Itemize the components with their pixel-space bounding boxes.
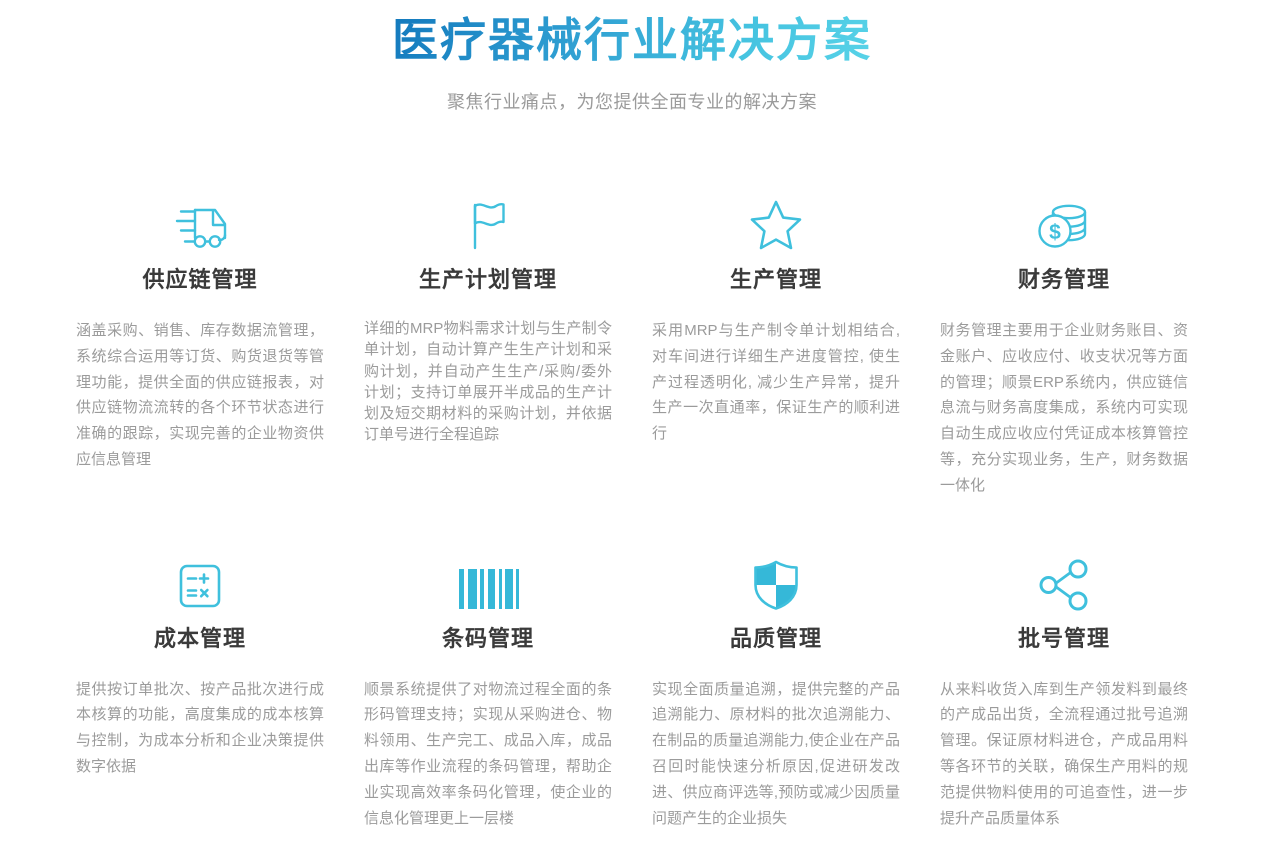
card-description: 财务管理主要用于企业财务账目、资金账户、应收应付、收支状况等方面的管理；顺景ER… <box>934 318 1194 499</box>
card-description: 涵盖采购、销售、库存数据流管理，系统综合运用等订货、购货退货等管理功能，提供全面… <box>70 318 330 473</box>
barcode-icon <box>358 545 618 611</box>
card-description: 采用MRP与生产制令单计划相结合, 对车间进行详细生产进度管控, 使生产过程透明… <box>646 318 906 447</box>
solution-card-grid: 供应链管理 涵盖采购、销售、库存数据流管理，系统综合运用等订货、购货退货等管理功… <box>56 186 1208 831</box>
card-description: 顺景系统提供了对物流过程全面的条形码管理支持；实现从采购进仓、物料领用、生产完工… <box>358 677 618 832</box>
card-title: 成本管理 <box>70 621 330 653</box>
solution-card-batch[interactable]: 批号管理 从来料收货入库到生产领发料到最终的产成品出货，全流程通过批号追溯管理。… <box>920 545 1208 832</box>
share-nodes-icon <box>934 545 1194 611</box>
calculator-icon <box>70 545 330 611</box>
card-description: 从来料收货入库到生产领发料到最终的产成品出货，全流程通过批号追溯管理。保证原材料… <box>934 677 1194 832</box>
card-title: 财务管理 <box>934 262 1194 294</box>
card-description: 详细的MRP物料需求计划与生产制令单计划，自动计算产生生产计划和采购计划，并自动… <box>358 318 618 446</box>
card-title: 供应链管理 <box>70 262 330 294</box>
solution-card-supply-chain[interactable]: 供应链管理 涵盖采购、销售、库存数据流管理，系统综合运用等订货、购货退货等管理功… <box>56 186 344 499</box>
page-subtitle: 聚焦行业痛点，为您提供全面专业的解决方案 <box>0 88 1264 114</box>
card-description: 实现全面质量追溯，提供完整的产品追溯能力、原材料的批次追溯能力、在制品的质量追溯… <box>646 677 906 832</box>
coins-dollar-icon: $ <box>934 186 1194 252</box>
solution-card-cost[interactable]: 成本管理 提供按订单批次、按产品批次进行成本核算的功能，高度集成的成本核算与控制… <box>56 545 344 832</box>
solution-card-barcode[interactable]: 条码管理 顺景系统提供了对物流过程全面的条形码管理支持；实现从采购进仓、物料领用… <box>344 545 632 832</box>
shield-icon <box>646 545 906 611</box>
solution-card-production[interactable]: 生产管理 采用MRP与生产制令单计划相结合, 对车间进行详细生产进度管控, 使生… <box>632 186 920 499</box>
flag-icon <box>358 186 618 252</box>
card-title: 品质管理 <box>646 621 906 653</box>
solution-card-finance[interactable]: $ 财务管理 财务管理主要用于企业财务账目、资金账户、应收应付、收支状况等方面的… <box>920 186 1208 499</box>
solution-card-production-plan[interactable]: 生产计划管理 详细的MRP物料需求计划与生产制令单计划，自动计算产生生产计划和采… <box>344 186 632 499</box>
card-title: 生产计划管理 <box>358 262 618 294</box>
card-title: 条码管理 <box>358 621 618 653</box>
page-header: 医疗器械行业解决方案 聚焦行业痛点，为您提供全面专业的解决方案 <box>0 0 1264 114</box>
svg-text:$: $ <box>1049 221 1061 244</box>
star-icon <box>646 186 906 252</box>
delivery-truck-icon <box>70 186 330 252</box>
solution-page: 医疗器械行业解决方案 聚焦行业痛点，为您提供全面专业的解决方案 <box>0 0 1264 858</box>
card-title: 批号管理 <box>934 621 1194 653</box>
card-title: 生产管理 <box>646 262 906 294</box>
page-title: 医疗器械行业解决方案 <box>392 12 872 68</box>
card-description: 提供按订单批次、按产品批次进行成本核算的功能，高度集成的成本核算与控制，为成本分… <box>70 677 330 780</box>
solution-card-quality[interactable]: 品质管理 实现全面质量追溯，提供完整的产品追溯能力、原材料的批次追溯能力、在制品… <box>632 545 920 832</box>
